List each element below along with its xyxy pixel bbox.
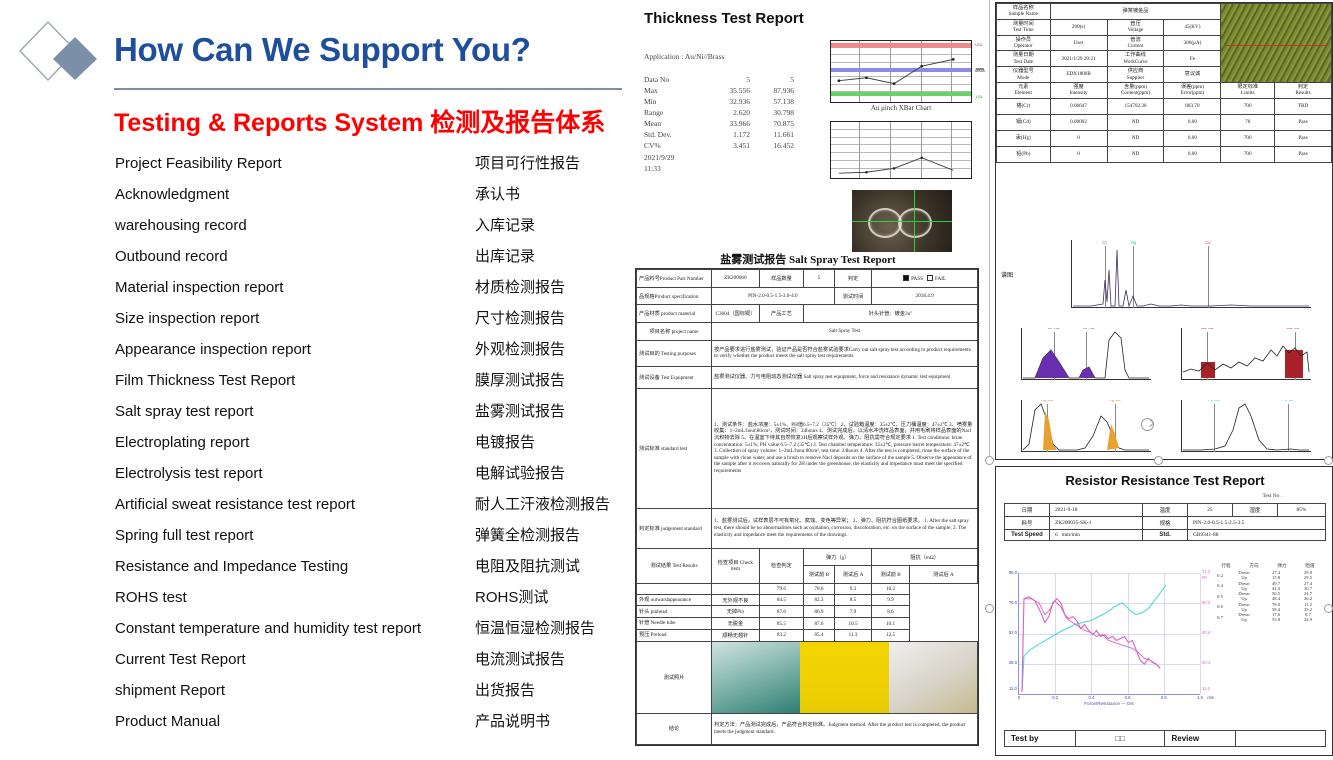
legend-line: Up15.829.5	[1228, 575, 1324, 580]
element-element: 镉(Cd)	[997, 114, 1051, 130]
thickness-stat-label: Range	[644, 107, 706, 118]
thickness-microscope-photo	[852, 190, 952, 252]
th-check-item: 检查项目 Check item	[712, 548, 760, 583]
cell-testby-label: Test by	[1005, 731, 1076, 747]
report-list-item: Outbound record出库记录	[115, 241, 631, 272]
report-item-en: Artificial sweat resistance test report	[115, 489, 355, 520]
report-item-en: Resistance and Impedance Testing	[115, 551, 348, 582]
thickness-stat-v2: 5	[750, 74, 794, 85]
usl-label: USL	[975, 42, 983, 47]
sample-photo	[1221, 4, 1332, 83]
legend-d2: Up	[1228, 575, 1260, 580]
element-error: 0.00	[1164, 146, 1221, 162]
diamond-logo-icon	[18, 18, 104, 90]
thickness-stat-row: Data No55	[644, 74, 794, 85]
cell-spec: PIN-2.0-0.5-1.5-3.0-4.0	[712, 287, 835, 305]
main-spectrum-trace	[1071, 240, 1311, 308]
legend-group: 0.4Down49.727.4Up41.330.7	[1212, 581, 1324, 591]
cell-humidity-label: 湿度	[1232, 504, 1277, 517]
element-header-1: 强度Intensity	[1050, 83, 1107, 99]
element-result: Pass	[1275, 114, 1332, 130]
salt-result-item: 外观 outwardappearance	[637, 594, 712, 606]
rchart-x-unit: mm	[1207, 695, 1214, 700]
thickness-stat-v1: 33.966	[706, 118, 750, 129]
cell-review-label: Review	[1165, 731, 1236, 747]
report-item-zh: 电镀报告	[475, 427, 535, 458]
report-item-zh: 材质检测报告	[475, 272, 565, 303]
resistor-test-no-label: Test No .	[1262, 493, 1282, 499]
total-analysis-table: 样品名称Sample Name弹簧镀金品测量时间Test Time200(s)管…	[996, 3, 1332, 163]
thickness-stat-row: Max35.55687.936	[644, 85, 794, 96]
report-list-item: Current Test Report电流测试报告	[115, 644, 631, 675]
lsl-label: LSL	[976, 94, 983, 99]
page-subtitle: Testing & Reports System 检测及报告体系	[114, 103, 605, 139]
thickness-stats-table: Data No55Max35.55687.936Min32.93657.138R…	[644, 74, 794, 151]
total-field-label: 仪器型号Mode	[997, 67, 1051, 83]
element-data-row: 铬(Cr)0.06647154702.30883.70700TBD	[997, 98, 1332, 114]
thickness-stat-label: CV%	[644, 140, 706, 151]
element-error: 883.70	[1164, 98, 1221, 114]
report-list-item: shipment Report出货报告	[115, 675, 631, 706]
resistor-info-table: 日期 2021-9-18 温度 25 湿度 85% 料号 ZK200035-SK…	[1004, 503, 1326, 541]
report-list-item: Size inspection report尺寸检测报告	[115, 303, 631, 334]
hg-spectrum-plot: 296197 990 9.49.9 10.410.9 11.4 KeV Hg-L…	[1021, 400, 1151, 452]
thickness-stat-v1: 2.620	[706, 107, 750, 118]
salt-spray-photo-strip	[712, 642, 977, 713]
cd-spectrum-plot: 1711 60 22.623.1 23.624.1 24.6 KeV Cd-Ka…	[1181, 328, 1311, 380]
legend-group: 0.5Down56.524.7Up48.426.2	[1212, 591, 1324, 601]
salt-result-judge	[712, 584, 760, 595]
legend-d2: Up	[1228, 607, 1260, 612]
legend-header-0: 行程	[1212, 563, 1240, 569]
report-item-en: Salt spray test report	[115, 396, 253, 427]
total-field-label2: 供应商Supplier	[1107, 67, 1164, 83]
th-force-before: 测试前 B	[804, 566, 835, 584]
legend-position: 0.2	[1212, 573, 1228, 578]
thickness-stat-v1: 35.556	[706, 85, 750, 96]
selection-edge-left	[989, 0, 990, 460]
legend-r2: 30.7	[1292, 586, 1324, 591]
salt-result-item	[637, 584, 712, 595]
report-item-en: Product Manual	[115, 706, 220, 737]
thickness-stat-v1: 1.172	[706, 129, 750, 140]
total-field-value2: 意议诚	[1164, 67, 1221, 83]
legend-d2: Up	[1228, 586, 1260, 591]
legend-f2: 58.4	[1260, 607, 1292, 612]
fail-label: FAIL	[935, 276, 946, 282]
th-group-force: 弹力（g）	[804, 548, 872, 566]
report-item-zh: 出货报告	[475, 675, 535, 706]
element-header-4: 限定标准Limits	[1221, 83, 1275, 99]
legend-group: 0.2Down27.429.0Up15.829.5	[1212, 570, 1324, 580]
report-list-item: ROHS testROHS测试	[115, 582, 631, 613]
thickness-stat-label: Data No	[644, 74, 706, 85]
cell-date-label: 日期	[1005, 504, 1050, 517]
th-res-after: 测试后 A	[909, 566, 977, 584]
legend-header-2: 弹力	[1268, 563, 1296, 569]
rchart-x-axis-label: Force/Resistance — Dis	[1018, 701, 1200, 706]
salt-result-rb: 8.5	[834, 594, 872, 606]
element-data-row: 镉(Cd)0.00002ND0.0070Pass	[997, 114, 1332, 130]
element-intensity: 0.00002	[1050, 114, 1107, 130]
th-res-before: 测试前 B	[872, 566, 910, 584]
cell-material: C3604（国标铜）	[712, 305, 760, 323]
report-list-item: Electrolysis test report电解试验报告	[115, 458, 631, 489]
photo-measure-line	[1226, 45, 1327, 46]
report-list-item: Material inspection report材质检测报告	[115, 272, 631, 303]
legend-line: Up41.330.7	[1228, 586, 1324, 591]
thickness-stat-v2: 11.661	[750, 129, 794, 140]
legend-position: 0.5	[1212, 594, 1228, 599]
chart-connector-dash	[976, 68, 984, 70]
element-header-0: 元素Element	[997, 83, 1051, 99]
element-header-row: 元素Element强度Intensity含量(ppm)Content(ppm)误…	[997, 83, 1332, 99]
salt-result-fb: 84.5	[759, 594, 803, 606]
cr-spectrum-trace	[1021, 328, 1151, 380]
element-result: TBD	[1275, 98, 1332, 114]
salt-result-fb: 83.2	[759, 629, 803, 641]
cell-results-label: 测试结果 Test Results	[637, 548, 712, 583]
thickness-stat-label: Max	[644, 85, 706, 96]
salt-result-row: 外观 outwardappearance无外观不良84.582.38.59.9	[637, 594, 978, 606]
cell-date: 2021-9-18	[1049, 504, 1142, 517]
legend-r2: 24.9	[1292, 617, 1324, 622]
cell-standard-label: 测试标准 standard test	[637, 388, 712, 508]
cell-rspec: PIN-2.0-0.5-1.5-2.5-3.5	[1187, 517, 1325, 530]
salt-result-row: 针管 Needle tube无脱金85.587.610.510.1	[637, 618, 978, 630]
thickness-stat-v1: 5	[706, 74, 750, 85]
thickness-stat-label: Min	[644, 96, 706, 107]
resistor-legend-table: 行程方向弹力阻值 0.2Down27.429.0Up15.829.50.4Dow…	[1212, 563, 1324, 623]
report-item-zh: 产品说明书	[475, 706, 550, 737]
thickness-stat-label: Std. Dev.	[644, 129, 706, 140]
salt-result-ra: 8.6	[872, 606, 910, 618]
element-content: ND	[1107, 114, 1164, 130]
cell-judgment-label: 判定	[834, 270, 872, 288]
legend-f2: 53.8	[1260, 617, 1292, 622]
legend-group: 0.6Down78.011.2Up58.425.2	[1212, 602, 1324, 612]
element-limits: 700	[1221, 146, 1275, 162]
total-field-value: 2021/1/29 20:21	[1050, 51, 1107, 67]
xbar-chart: USL Mean LSL	[830, 40, 972, 103]
report-item-zh: 电流测试报告	[475, 644, 565, 675]
salt-result-fa: 87.6	[804, 618, 835, 630]
salt-result-fa: 78.6	[804, 584, 835, 595]
thickness-stat-v2: 57.138	[750, 96, 794, 107]
salt-result-fa: 86.9	[804, 606, 835, 618]
cell-equipment-label: 测试设备 Test Equipment	[637, 366, 712, 388]
salt-spray-title: 盐雾测试报告 Salt Spray Test Report	[636, 251, 980, 267]
report-item-zh: 恒温恒湿检测报告	[475, 613, 595, 644]
total-field-value2: 45(KV)	[1164, 19, 1221, 35]
legend-d2: Up	[1228, 617, 1260, 622]
report-list-item: Project Feasibility Report项目可行性报告	[115, 148, 631, 179]
report-list-item: Artificial sweat resistance test report耐…	[115, 489, 631, 520]
legend-line: Up58.425.2	[1228, 607, 1324, 612]
resistor-signoff-table: Test by □□ Review	[1004, 730, 1326, 747]
report-list-item: Spring full test report弹簧全检测报告	[115, 520, 631, 551]
report-item-en: Size inspection report	[115, 303, 259, 334]
pass-checkbox[interactable]	[903, 275, 909, 281]
report-item-zh: 电解试验报告	[475, 458, 565, 489]
resistor-resistance-report-card: Resistor Resistance Test Report Test No …	[995, 466, 1333, 756]
salt-result-fb: 85.5	[759, 618, 803, 630]
element-element: 铬(Cr)	[997, 98, 1051, 114]
report-item-en: Spring full test report	[115, 520, 253, 551]
range-series-line	[831, 122, 971, 178]
legend-group: 0.7Down17.68.7Up53.824.9	[1212, 612, 1324, 622]
cell-project-label: 项目名称 project name	[637, 323, 712, 341]
report-item-en: Electroplating report	[115, 427, 249, 458]
report-item-en: Material inspection report	[115, 272, 283, 303]
salt-result-ra: 10.1	[872, 618, 910, 630]
total-field-label2: 管流Current	[1107, 35, 1164, 51]
report-item-zh: 外观检测报告	[475, 334, 565, 365]
report-item-zh: 耐人工汗液检测报告	[475, 489, 610, 520]
xbar-chart-caption: Au μinch XBar Chart	[830, 104, 972, 112]
total-field-label2: 管压Voltage	[1107, 19, 1164, 35]
element-header-5: 判定Results	[1275, 83, 1332, 99]
element-element: 铅(Pb)	[997, 146, 1051, 162]
report-list-item: warehousing record入库记录	[115, 210, 631, 241]
cell-conclusion: 判定方法：产品测试完成后，产品符合判定标准。Judgment method: A…	[712, 713, 978, 744]
report-item-zh: 尺寸检测报告	[475, 303, 565, 334]
element-limits: 70	[1221, 114, 1275, 130]
report-item-zh: 电阻及阻抗测试	[475, 551, 580, 582]
element-intensity: 0	[1050, 130, 1107, 146]
salt-result-rb: 9.3	[834, 584, 872, 595]
element-content: 154702.30	[1107, 98, 1164, 114]
salt-result-row: 79.678.69.310.2	[637, 584, 978, 595]
page-title: How Can We Support You?	[114, 31, 531, 69]
cell-partno: ZK200035-SK-1	[1049, 517, 1142, 530]
thickness-application: Application : Au/Ni//Brass	[644, 52, 724, 61]
photo-connectors	[889, 642, 977, 713]
salt-result-judge: 无外观不良	[712, 594, 760, 606]
report-item-zh: 承认书	[475, 179, 520, 210]
salt-result-ra: 10.2	[872, 584, 910, 595]
element-intensity: 0	[1050, 146, 1107, 162]
element-intensity: 0.06647	[1050, 98, 1107, 114]
cell-part-number-label: 产品料号Product Part Number	[637, 270, 712, 288]
legend-r2: 25.2	[1292, 607, 1324, 612]
middle-reports-panel: Thickness Test Report Application : Au/N…	[634, 0, 984, 760]
selection-handle-mid-right[interactable]	[1324, 604, 1333, 613]
cell-partno-label: 料号	[1005, 517, 1050, 530]
cell-review-value	[1236, 731, 1326, 747]
legend-f2: 41.3	[1260, 586, 1292, 591]
report-item-en: warehousing record	[115, 210, 247, 241]
hg-spectrum-trace	[1021, 400, 1151, 452]
salt-result-ra: 9.9	[872, 594, 910, 606]
total-field-value2: Fe	[1164, 51, 1221, 67]
resistor-legend-headers: 行程方向弹力阻值	[1212, 563, 1324, 569]
element-content: ND	[1107, 130, 1164, 146]
total-analysis-row: 样品名称Sample Name弹簧镀金品	[997, 4, 1332, 20]
cell-testby-value: □□	[1075, 731, 1165, 747]
cell-humidity: 85%	[1277, 504, 1325, 517]
selection-handle-mid-left[interactable]	[985, 604, 994, 613]
total-field-value2: 306(μA)	[1164, 35, 1221, 51]
report-list: Project Feasibility Report项目可行性报告Acknowl…	[115, 148, 631, 737]
thickness-time: 11:33	[644, 163, 674, 174]
pb-spectrum-trace	[1181, 400, 1311, 452]
cd-spectrum-trace	[1181, 328, 1311, 380]
cell-criteria-label: 判定标准 judgement standard	[637, 508, 712, 548]
report-list-item: Constant temperature and humidity test r…	[115, 613, 631, 644]
legend-position: 0.4	[1212, 583, 1228, 588]
salt-result-item: 针管 Needle tube	[637, 618, 712, 630]
legend-f2: 48.4	[1260, 596, 1292, 601]
report-item-en: Appearance inspection report	[115, 334, 311, 365]
cell-project-name: Salt Spray Test	[712, 323, 978, 341]
thickness-test-report-card: Thickness Test Report Application : Au/N…	[634, 0, 984, 262]
report-item-en: Film Thickness Test Report	[115, 365, 295, 396]
element-result: Pass	[1275, 146, 1332, 162]
thickness-stat-v1: 3.451	[706, 140, 750, 151]
report-item-zh: 盐雾测试报告	[475, 396, 565, 427]
cell-speed: 6 mm/min	[1049, 530, 1142, 541]
legend-position: 0.6	[1212, 604, 1228, 609]
total-field-label: 测量时间Test Time	[997, 19, 1051, 35]
th-group-resistance: 阻抗（mΩ）	[872, 548, 978, 566]
salt-result-fa: 82.3	[804, 594, 835, 606]
thickness-stat-row: CV%3.45116.452	[644, 140, 794, 151]
cell-part-number: ZK200060	[712, 270, 760, 288]
cell-temp-label: 温度	[1143, 504, 1188, 517]
thickness-stat-row: Mean33.96670.875	[644, 118, 794, 129]
salt-spray-table: 产品料号Product Part Number ZK200060 样品数量 5 …	[636, 269, 978, 745]
thickness-stat-row: Range2.62030.798	[644, 107, 794, 118]
element-header-2: 含量(ppm)Content(ppm)	[1107, 83, 1164, 99]
element-data-row: 铅(Pb)0ND0.00700Pass	[997, 146, 1332, 162]
element-limits: 700	[1221, 130, 1275, 146]
thickness-stat-row: Min32.93657.138	[644, 96, 794, 107]
cell-speed-label: Test Speed	[1005, 530, 1050, 541]
th-check-judge: 检查判定	[759, 548, 803, 583]
resistor-force-chart: 95.076.0 52.028.0 11.0 71.3#0 50.440.4 2…	[1018, 573, 1200, 695]
thickness-date: 2021/9/29	[644, 152, 674, 163]
total-field-value: 弹簧镀金品	[1050, 4, 1221, 20]
element-content: ND	[1107, 146, 1164, 162]
total-analysis-title: Total Analysis Report	[996, 0, 1333, 1]
salt-result-rb: 11.3	[834, 629, 872, 641]
cell-purpose: 按产品要求进行盐雾测试，验证产品是否符合盐雾试验要求Carry out salt…	[712, 340, 978, 366]
cell-equipment: 盐雾测试仪器、力与电阻动态测试仪器 Salt spray test equipm…	[712, 366, 978, 388]
thickness-stat-v1: 32.936	[706, 96, 750, 107]
cell-test-time-label: 测试时间	[834, 287, 872, 305]
rchart-traces	[1019, 573, 1200, 694]
salt-result-rb: 7.9	[834, 606, 872, 618]
fail-checkbox[interactable]	[927, 275, 933, 281]
salt-result-item: 针头 pinhead	[637, 606, 712, 618]
th-force-after: 测试后 A	[834, 566, 872, 584]
salt-result-row: 预压 Preload顺畅无翘针83.285.411.312.5	[637, 629, 978, 641]
pass-label: PASS	[911, 276, 923, 282]
report-list-item: Salt spray test report盐雾测试报告	[115, 396, 631, 427]
rotate-handle-icon[interactable]	[1141, 418, 1154, 431]
report-item-en: Current Test Report	[115, 644, 246, 675]
selection-handle-bottom-left[interactable]	[985, 456, 994, 465]
cell-purpose-label: 测试目的 Testing purposes	[637, 340, 712, 366]
selection-handle-bottom-center[interactable]	[1154, 456, 1163, 465]
cell-spec-label: 品规格Product specification	[637, 287, 712, 305]
thickness-stat-v2: 87.936	[750, 85, 794, 96]
cell-process-label: 产品工艺	[759, 305, 803, 323]
total-field-label: 操作员Operator	[997, 35, 1051, 51]
report-item-en: Acknowledgment	[115, 179, 229, 210]
legend-line: Up48.426.2	[1228, 596, 1324, 601]
report-item-en: Outbound record	[115, 241, 228, 272]
cell-photo-strip	[712, 641, 978, 713]
slide-root: How Can We Support You? Testing & Report…	[0, 0, 1333, 760]
total-field-value: User	[1050, 35, 1107, 51]
element-data-row: 汞(Hg)0ND0.00700Pass	[997, 130, 1332, 146]
report-item-en: Electrolysis test report	[115, 458, 263, 489]
thickness-stat-row: Std. Dev.1.17211.661	[644, 129, 794, 140]
thickness-stat-v2: 16.452	[750, 140, 794, 151]
salt-result-judge: 顺畅无翘针	[712, 629, 760, 641]
cell-material-label: 产品材质 product material	[637, 305, 712, 323]
report-item-zh: 项目可行性报告	[475, 148, 580, 179]
salt-result-item: 预压 Preload	[637, 629, 712, 641]
cell-process: 针头针管：镀金3u"	[804, 305, 978, 323]
cell-sample-qty-label: 样品数量	[759, 270, 803, 288]
xrf-spectra-group: 谱图 5129 4103 3077 2052 1026 0 0500 10001…	[995, 228, 1333, 460]
cell-test-time: 2018.4.9	[872, 287, 978, 305]
legend-r2: 26.2	[1292, 596, 1324, 601]
salt-result-judge: 无脱金	[712, 618, 760, 630]
legend-d2: Up	[1228, 596, 1260, 601]
legend-r2: 29.5	[1292, 575, 1324, 580]
legend-position: 0.7	[1212, 615, 1228, 620]
report-item-zh: 膜厚测试报告	[475, 365, 565, 396]
total-field-value: 200(s)	[1050, 19, 1107, 35]
main-spectrum-plot: 5129 4103 3077 2052 1026 0 0500 10001500…	[1071, 240, 1311, 308]
pb-spectrum-plot: 215143 720 10.010.5 11.011.5 12.0 KeV Pb…	[1181, 400, 1311, 452]
legend-line: Up53.824.9	[1228, 617, 1324, 622]
cell-criteria: 1、盐雾测试后，试样表层不可有氧化、腐蚀、变色等异常； 2、弹力、阻抗符合图纸要…	[712, 508, 978, 548]
element-header-3: 误差(ppm)Error(ppm)	[1164, 83, 1221, 99]
element-error: 0.00	[1164, 114, 1221, 130]
spectrum-label: 谱图	[1001, 270, 1013, 279]
cell-std: GB9341-88	[1187, 530, 1325, 541]
salt-result-rb: 10.5	[834, 618, 872, 630]
salt-result-fb: 87.6	[759, 606, 803, 618]
element-element: 汞(Hg)	[997, 130, 1051, 146]
report-item-zh: 弹簧全检测报告	[475, 520, 580, 551]
element-error: 0.00	[1164, 130, 1221, 146]
resistor-report-title: Resistor Resistance Test Report	[996, 473, 1333, 488]
right-reports-panel: Total Analysis Report 样品名称Sample Name弹簧镀…	[984, 0, 1333, 760]
thickness-stat-v2: 70.875	[750, 118, 794, 129]
legend-f2: 15.8	[1260, 575, 1292, 580]
salt-result-row: 针头 pinhead无掉Pin87.686.97.98.6	[637, 606, 978, 618]
report-list-item: Resistance and Impedance Testing电阻及阻抗测试	[115, 551, 631, 582]
thickness-stat-label: Mean	[644, 118, 706, 129]
salt-result-fa: 85.4	[804, 629, 835, 641]
cr-spectrum-plot: 51293419 17100 4.95.4 5.96.4 KeV Cr-Ka C…	[1021, 328, 1151, 380]
report-list-item: Appearance inspection report外观检测报告	[115, 334, 631, 365]
xbar-series-line	[831, 41, 971, 102]
salt-result-ra: 12.5	[872, 629, 910, 641]
report-item-zh: 出库记录	[475, 241, 535, 272]
selection-handle-bottom-right[interactable]	[1324, 456, 1333, 465]
total-field-label: 样品名称Sample Name	[997, 4, 1051, 20]
legend-header-1: 方向	[1240, 563, 1268, 569]
salt-result-fb: 79.6	[759, 584, 803, 595]
report-item-en: ROHS test	[115, 582, 187, 613]
